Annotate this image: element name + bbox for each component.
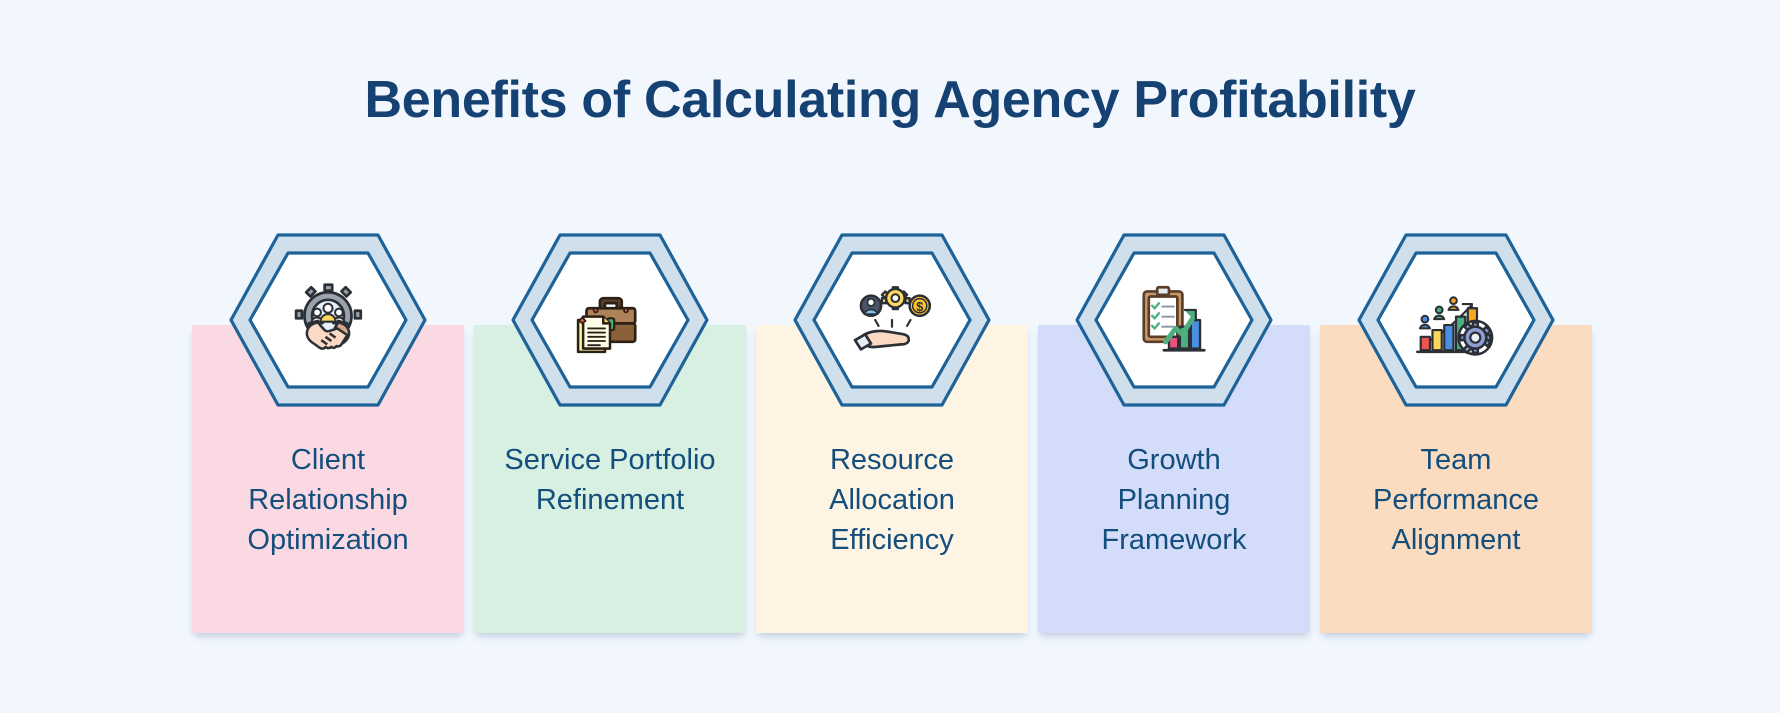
- benefit-card-1-label: Client Relationship Optimization: [200, 440, 456, 560]
- hexagon-badge-2[interactable]: [510, 232, 710, 408]
- svg-text:$: $: [916, 300, 923, 314]
- infographic-canvas: Benefits of Calculating Agency Profitabi…: [0, 0, 1780, 713]
- hexagon-slot-2: [474, 232, 746, 412]
- page-title: Benefits of Calculating Agency Profitabi…: [0, 72, 1780, 129]
- hexagon-badge-5[interactable]: [1356, 232, 1556, 408]
- hexagon-slot-1: [192, 232, 464, 412]
- briefcase-documents-icon: [568, 278, 652, 362]
- benefit-card-2-label: Service Portfolio Refinement: [482, 440, 738, 520]
- benefit-card-3-label: Resource Allocation Efficiency: [764, 440, 1020, 560]
- clipboard-growth-chart-icon: [1132, 278, 1216, 362]
- hexagon-slot-3: $: [756, 232, 1028, 412]
- hexagon-badge-4[interactable]: [1074, 232, 1274, 408]
- hexagon-slot-5: [1320, 232, 1592, 412]
- hexagon-badge-1[interactable]: [228, 232, 428, 408]
- benefit-card-4-label: Growth Planning Framework: [1046, 440, 1302, 560]
- benefit-card-5-label: Team Performance Alignment: [1328, 440, 1584, 560]
- hexagon-badge-row: $: [192, 232, 1592, 412]
- hexagon-badge-3[interactable]: $: [792, 232, 992, 408]
- hand-resources-dollar-icon: $: [850, 278, 934, 362]
- bar-chart-people-gear-icon: [1414, 278, 1498, 362]
- handshake-gear-team-icon: [286, 278, 370, 362]
- hexagon-slot-4: [1038, 232, 1310, 412]
